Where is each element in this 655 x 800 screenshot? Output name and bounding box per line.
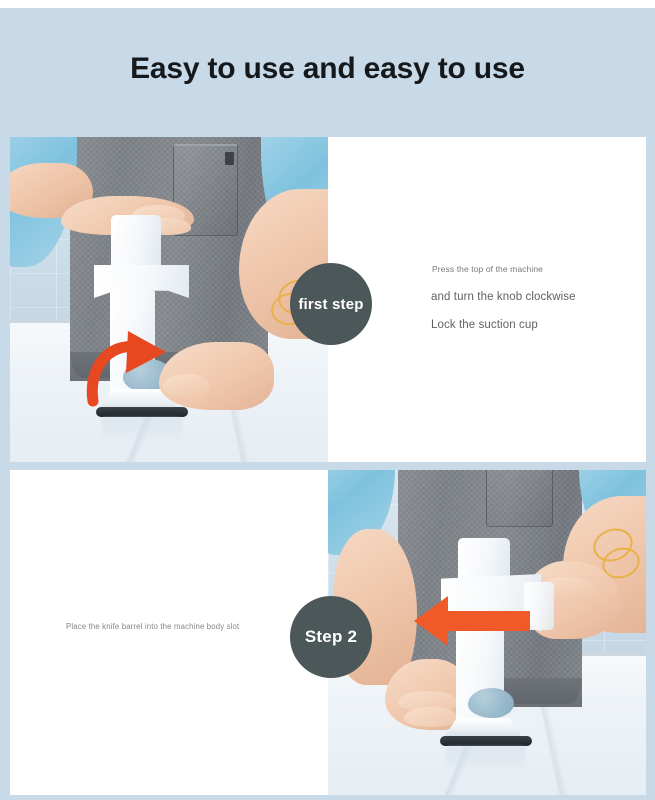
suction-cup-base [440, 736, 532, 746]
step-1-photo [10, 137, 328, 462]
instruction-line-2: and turn the knob clockwise [431, 291, 631, 303]
apron-pocket-tag [225, 152, 234, 165]
page-title: Easy to use and easy to use [0, 50, 655, 88]
curved-clockwise-arrow-icon [86, 329, 172, 407]
instruction-line-3: Lock the suction cup [431, 319, 631, 331]
finger-left-2 [404, 707, 458, 727]
step-badge-1: first step [290, 263, 372, 345]
step-2-photo [328, 470, 646, 795]
slicer-hopper [111, 215, 161, 273]
slicer-knob[interactable] [468, 688, 514, 718]
step-1-text-panel: Press the top of the machine and turn th… [328, 137, 646, 462]
suction-cup-base [96, 407, 188, 417]
apron-pocket [486, 470, 552, 527]
counter-reflection [102, 417, 182, 443]
step-badge-2: Step 2 [290, 596, 372, 678]
infographic-page: Easy to use and easy to use [0, 0, 655, 800]
step-1-instructions: Press the top of the machine and turn th… [431, 264, 631, 347]
left-arrow-icon [414, 592, 530, 650]
step-2-caption: Place the knife barrel into the machine … [66, 622, 239, 631]
instruction-line-1: Press the top of the machine [431, 264, 631, 274]
counter-reflection [446, 746, 526, 774]
step-2-text-panel: Place the knife barrel into the machine … [10, 470, 328, 795]
